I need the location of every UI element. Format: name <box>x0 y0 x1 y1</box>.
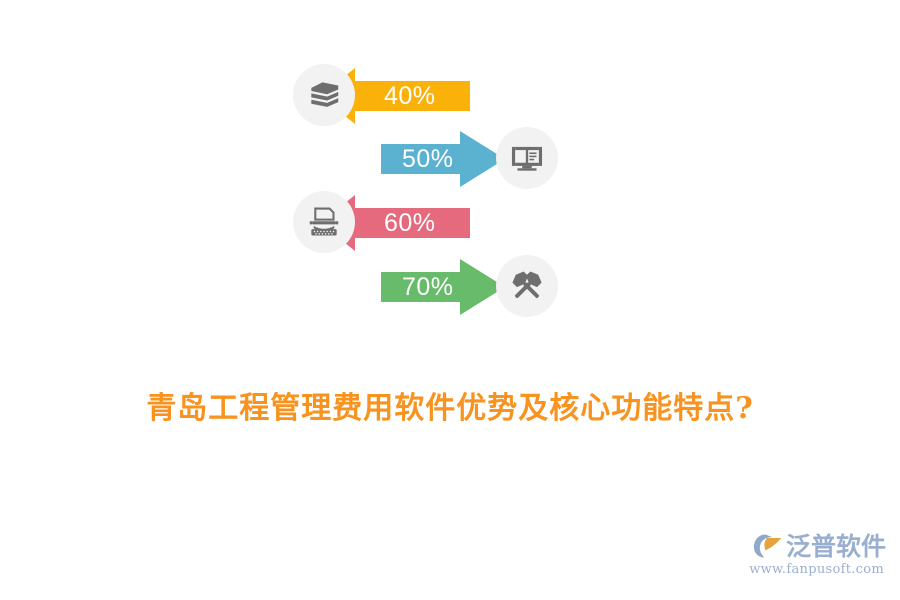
infographic-canvas: 40% 50% <box>0 0 900 600</box>
crossed-hammers-icon <box>496 255 558 317</box>
watermark-url: www.fanpusoft.com <box>746 562 886 577</box>
arrow-infographic: 40% 50% <box>280 60 580 330</box>
infographic-row: 50% <box>280 123 580 193</box>
typewriter-icon <box>293 191 355 253</box>
infographic-row: 40% <box>280 60 580 130</box>
fanpu-logo-icon <box>753 532 783 560</box>
watermark-brand: 泛普软件 <box>786 534 886 559</box>
watermark-brand-row: 泛普软件 <box>746 532 886 560</box>
books-stack-icon <box>293 64 355 126</box>
infographic-row: 70% <box>280 251 580 321</box>
infographic-row: 60% <box>280 187 580 257</box>
page-title: 青岛工程管理费用软件优势及核心功能特点? <box>0 383 900 427</box>
open-book-icon <box>496 127 558 189</box>
watermark: 泛普软件 www.fanpusoft.com <box>746 532 886 588</box>
